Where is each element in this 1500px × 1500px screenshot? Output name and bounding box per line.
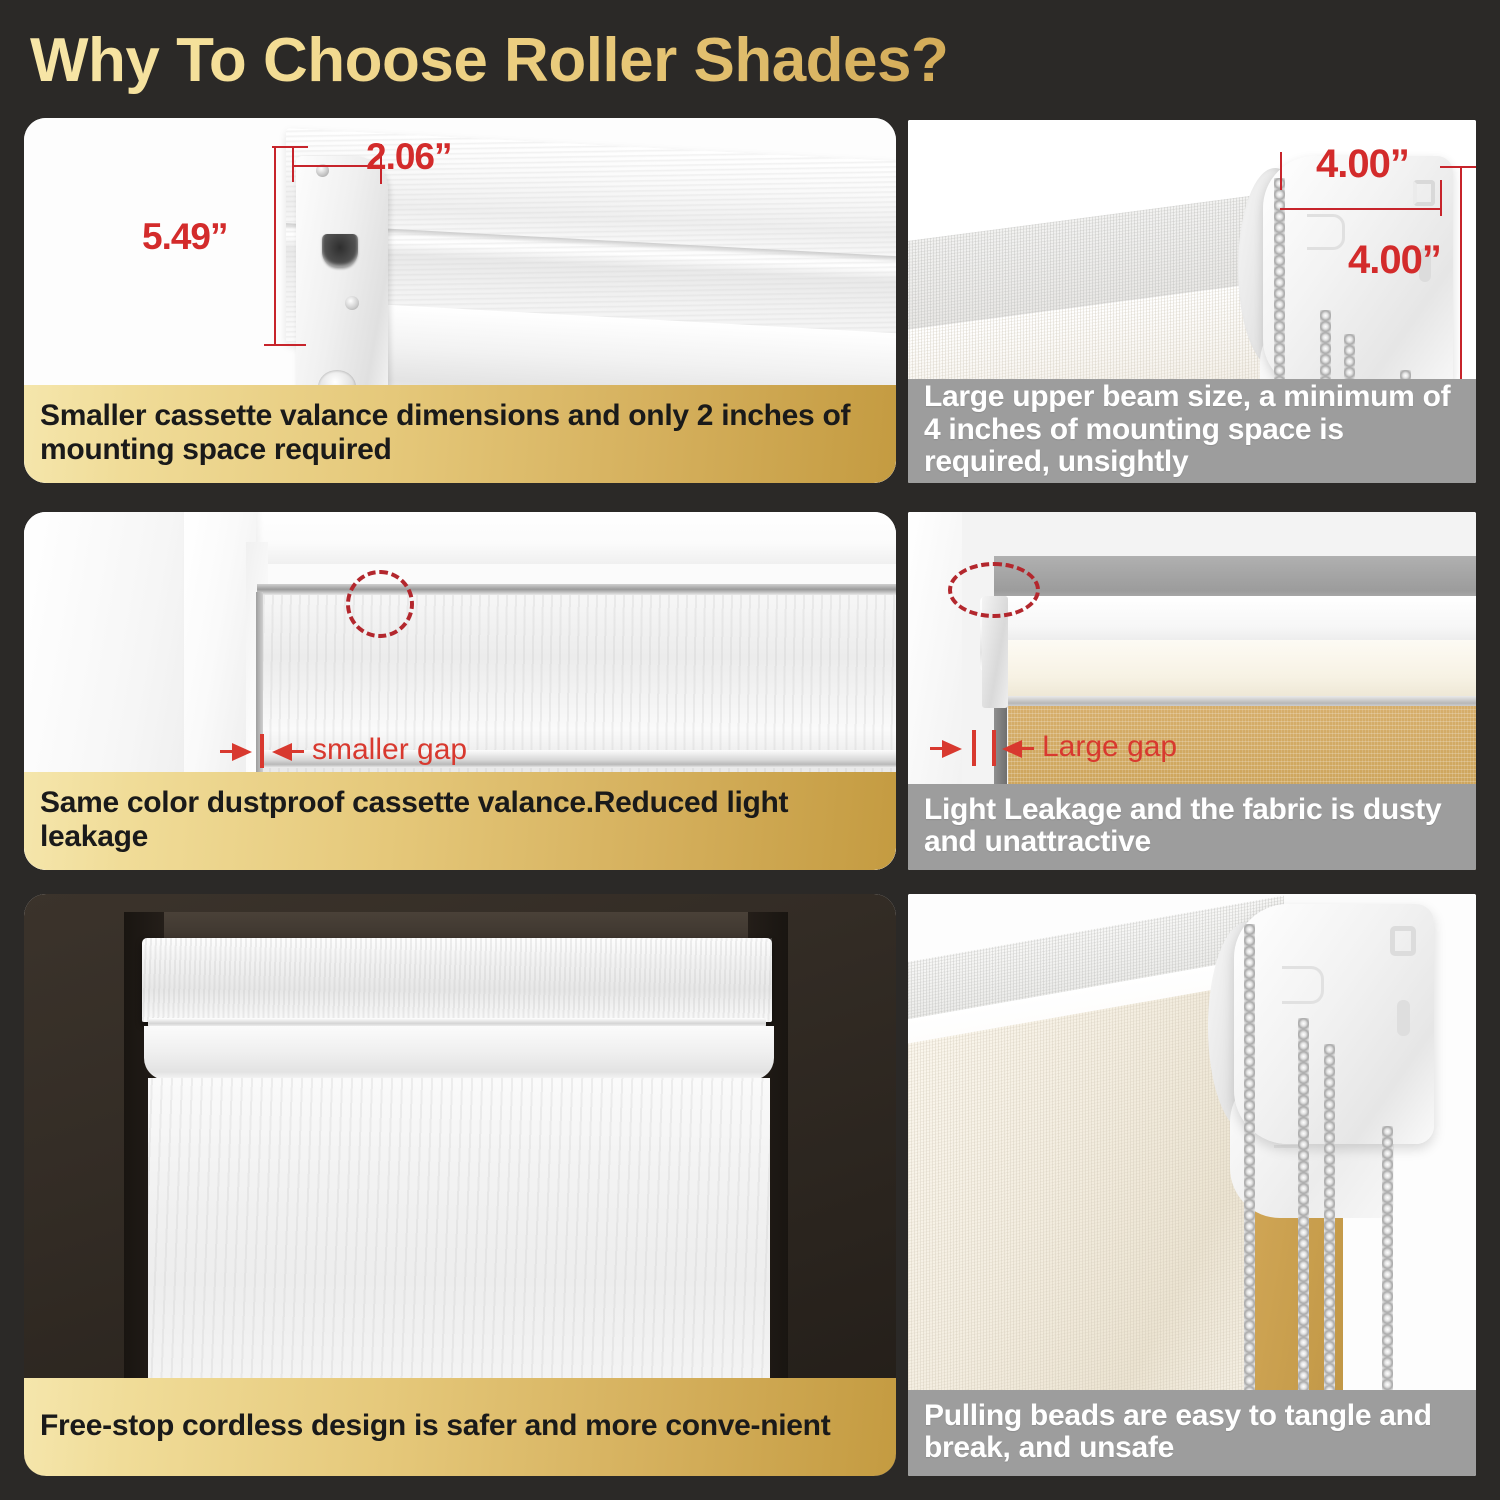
panel-6-photo <box>908 894 1476 1476</box>
panel-1-caption-text: Smaller cassette valance dimensions and … <box>40 399 880 467</box>
beam-width-tick-right <box>1440 180 1442 216</box>
rolled-fabric <box>144 1026 774 1080</box>
bracket-notch-upper-icon <box>1413 180 1435 206</box>
large-gap-arrow-right-tail <box>1020 747 1034 750</box>
cream-valance-band <box>1004 640 1476 702</box>
panel-6-caption-bar: Pulling beads are easy to tangle and bre… <box>908 1390 1476 1476</box>
end-cap-screw-upper <box>345 296 359 310</box>
large-gap-arrow-left-icon <box>942 740 962 758</box>
infographic-root: Why To Choose Roller Shades? 2.06” 5.49” <box>0 0 1500 1500</box>
large-gap-tick-a <box>972 730 976 766</box>
panel-dustproof-valance: smaller gap Same color dustproof cassett… <box>24 512 896 870</box>
bracket-slot-icon-2 <box>1397 1000 1410 1036</box>
large-gap-arrow-left-tail <box>930 747 944 750</box>
gap-tick-marker <box>260 734 264 768</box>
large-gap-label: Large gap <box>1042 730 1177 764</box>
panel-large-upper-beam: 4.00” 4.00” Large upper beam size, a min… <box>908 120 1476 483</box>
white-cassette-valance <box>142 938 772 1022</box>
width-dimension-label: 2.06” <box>366 136 452 178</box>
panel-smaller-cassette: 2.06” 5.49” Smaller cassette valance dim… <box>24 118 896 483</box>
panel-3-caption-bar: Same color dustproof cassette valance.Re… <box>24 772 896 870</box>
gap-arrow-right-tail <box>290 750 304 753</box>
panel-1-caption-bar: Smaller cassette valance dimensions and … <box>24 385 896 483</box>
panel-2-caption-bar: Large upper beam size, a minimum of 4 in… <box>908 379 1476 483</box>
smaller-gap-label: smaller gap <box>312 733 467 767</box>
highlight-ellipse-annotation <box>948 562 1040 618</box>
large-gap-tick-b <box>992 730 996 766</box>
bracket-embossed-logo-icon <box>1307 214 1345 250</box>
panel-cordless-design: Free-stop cordless design is safer and m… <box>24 894 896 1476</box>
gap-arrow-left-tail <box>220 750 234 753</box>
lowered-shade-fabric <box>148 1078 770 1416</box>
gap-arrow-right-icon <box>272 743 292 761</box>
beam-height-dimension-label: 4.00” <box>1348 238 1441 283</box>
beam-height-tick-top <box>1440 166 1476 168</box>
panel-5-caption-bar: Free-stop cordless design is safer and m… <box>24 1378 896 1476</box>
gap-arrow-left-icon <box>232 743 252 761</box>
panel-3-caption-text: Same color dustproof cassette valance.Re… <box>40 786 880 854</box>
page-title: Why To Choose Roller Shades? <box>30 22 1230 100</box>
beam-height-dimension-line <box>1460 166 1462 388</box>
panel-6-caption-text: Pulling beads are easy to tangle and bre… <box>924 1400 1460 1465</box>
panel-light-leakage: Large gap Light Leakage and the fabric i… <box>908 512 1476 870</box>
panel-2-caption-text: Large upper beam size, a minimum of 4 in… <box>924 381 1460 478</box>
panel-4-caption-bar: Light Leakage and the fabric is dusty an… <box>908 784 1476 870</box>
bracket-embossed-logo-icon-2 <box>1282 966 1324 1004</box>
end-cap-slot-icon <box>322 234 358 268</box>
width-dimension-tick-left <box>292 148 294 182</box>
height-dimension-tick-top <box>272 146 308 148</box>
window-frame-top <box>200 512 896 564</box>
highlight-circle-annotation <box>346 570 414 638</box>
large-gap-arrow-right-icon <box>1002 740 1022 758</box>
panel-4-caption-text: Light Leakage and the fabric is dusty an… <box>924 794 1460 859</box>
bracket-notch-icon-2 <box>1390 926 1416 956</box>
panel-pulling-beads: Pulling beads are easy to tangle and bre… <box>908 894 1476 1476</box>
height-dimension-line <box>274 146 276 346</box>
cassette-end-cap <box>296 156 388 424</box>
panel-5-caption-text: Free-stop cordless design is safer and m… <box>40 1409 830 1443</box>
height-dimension-tick-bottom <box>264 344 306 346</box>
beam-width-tick-left <box>1280 152 1282 190</box>
beam-width-dimension-label: 4.00” <box>1316 142 1409 187</box>
beam-width-dimension-line <box>1280 208 1442 210</box>
height-dimension-label: 5.49” <box>142 216 228 258</box>
